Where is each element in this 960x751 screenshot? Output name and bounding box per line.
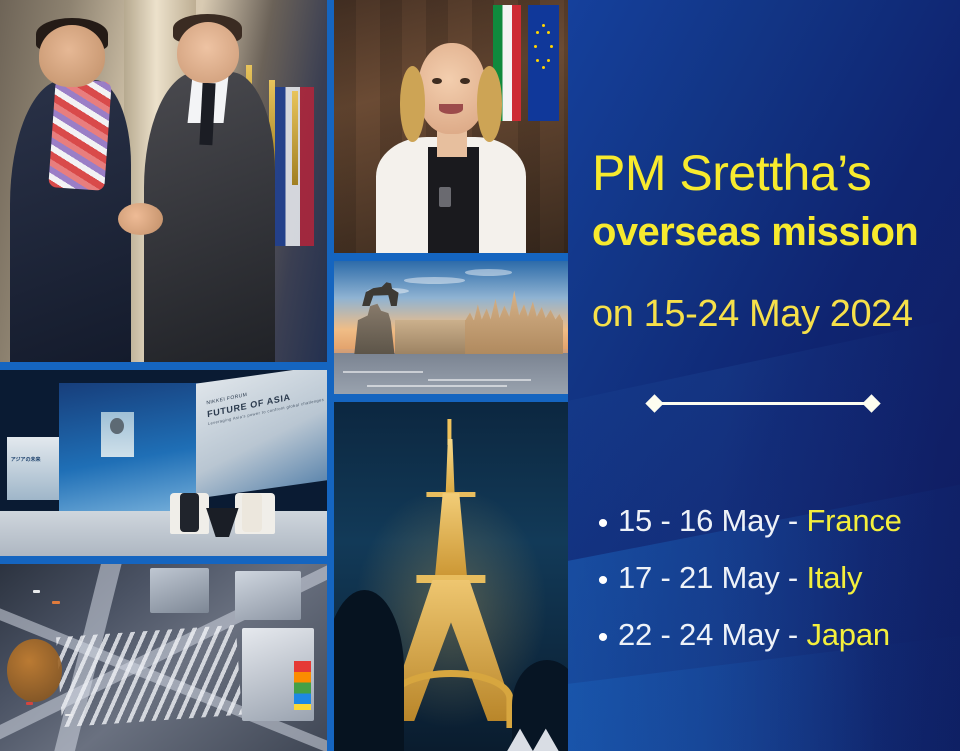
seated-panelist [242,493,262,532]
figure-hair-side [477,66,503,142]
side-screen: アジアの未来 [7,437,59,500]
itinerary-country: France [806,503,901,538]
striped-scarf [49,78,112,190]
itinerary-entry: 17 - 21 May - Italy [618,562,862,593]
photo-handshake [0,0,327,362]
bullet-icon: • [588,566,618,596]
pavement-line [367,385,507,387]
list-item: • 15 - 16 May - France [588,505,960,562]
video-speaker-head [110,418,124,434]
piazza-pavement [334,353,568,394]
galleria-arcade [395,320,475,355]
pavement-line [343,371,423,373]
photo-milan-duomo [334,261,568,394]
figure-mouth [439,104,462,114]
crosswalk-stripes [56,625,242,727]
diamond-right-icon [862,394,880,412]
bullet-icon: • [588,623,618,653]
itinerary-list: • 15 - 16 May - France • 17 - 21 May - I… [588,505,960,676]
tower-top-section [441,439,460,497]
photo-conference: NIKKEI FORUM FUTURE OF ASIA Leveraging A… [0,370,327,556]
itinerary-country: Japan [806,617,889,652]
headline-secondary: overseas mission [592,212,958,252]
stage-floor [0,511,327,556]
photo-italian-pm [334,0,568,253]
side-screen-text: アジアの未来 [11,456,41,463]
figure-face [418,43,486,134]
itinerary-dates: 15 - 16 May - [618,503,806,538]
figure-srettha-head [39,25,104,87]
car [33,590,40,593]
car [52,601,59,604]
gilded-finial [292,91,298,185]
forum-banner-text: NIKKEI FORUM FUTURE OF ASIA Leveraging A… [206,375,327,427]
itinerary-dates: 22 - 24 May - [618,617,806,652]
list-item: • 22 - 24 May - Japan [588,619,960,676]
itinerary-country: Italy [806,560,862,595]
poster-canvas: NIKKEI FORUM FUTURE OF ASIA Leveraging A… [0,0,960,751]
grid-separator-horizontal [334,253,568,261]
cloud [404,277,465,284]
diamond-divider [648,396,878,410]
cloud [465,269,512,276]
grid-separator-horizontal [334,394,568,402]
car [26,702,33,705]
figure-macron-head [177,22,239,84]
seated-panelist [180,493,200,532]
building [235,571,300,620]
photo-eiffel-tower [334,402,568,751]
car [65,714,72,717]
photo-grid: NIKKEI FORUM FUTURE OF ASIA Leveraging A… [0,0,568,751]
itinerary-entry: 15 - 16 May - France [618,505,902,536]
grid-separator-horizontal [0,556,327,564]
itinerary-entry: 22 - 24 May - Japan [618,619,890,650]
lapel-microphone [439,187,451,207]
grid-separator-vertical [327,0,334,751]
text-panel: PM Srettha’s overseas mission on 15-24 M… [568,0,960,751]
itinerary-dates: 17 - 21 May - [618,560,806,595]
headline-primary: PM Srettha’s [592,148,952,198]
photo-aerial-crossing [0,564,327,751]
autumn-trees [7,639,63,703]
eu-flag [528,5,558,121]
forum-banner: NIKKEI FORUM FUTURE OF ASIA Leveraging A… [196,370,327,499]
tower-mid-section [425,493,477,583]
list-item: • 17 - 21 May - Italy [588,562,960,619]
tower-base-arch [389,670,514,728]
neon-signboard [294,661,310,710]
divider-line [656,402,870,405]
grid-separator-horizontal [0,362,327,370]
black-top [428,147,479,253]
building [150,568,209,613]
figure-hair-side [400,66,426,142]
pavement-line [428,379,531,381]
bullet-icon: • [588,509,618,539]
date-subtitle: on 15-24 May 2024 [592,295,958,333]
